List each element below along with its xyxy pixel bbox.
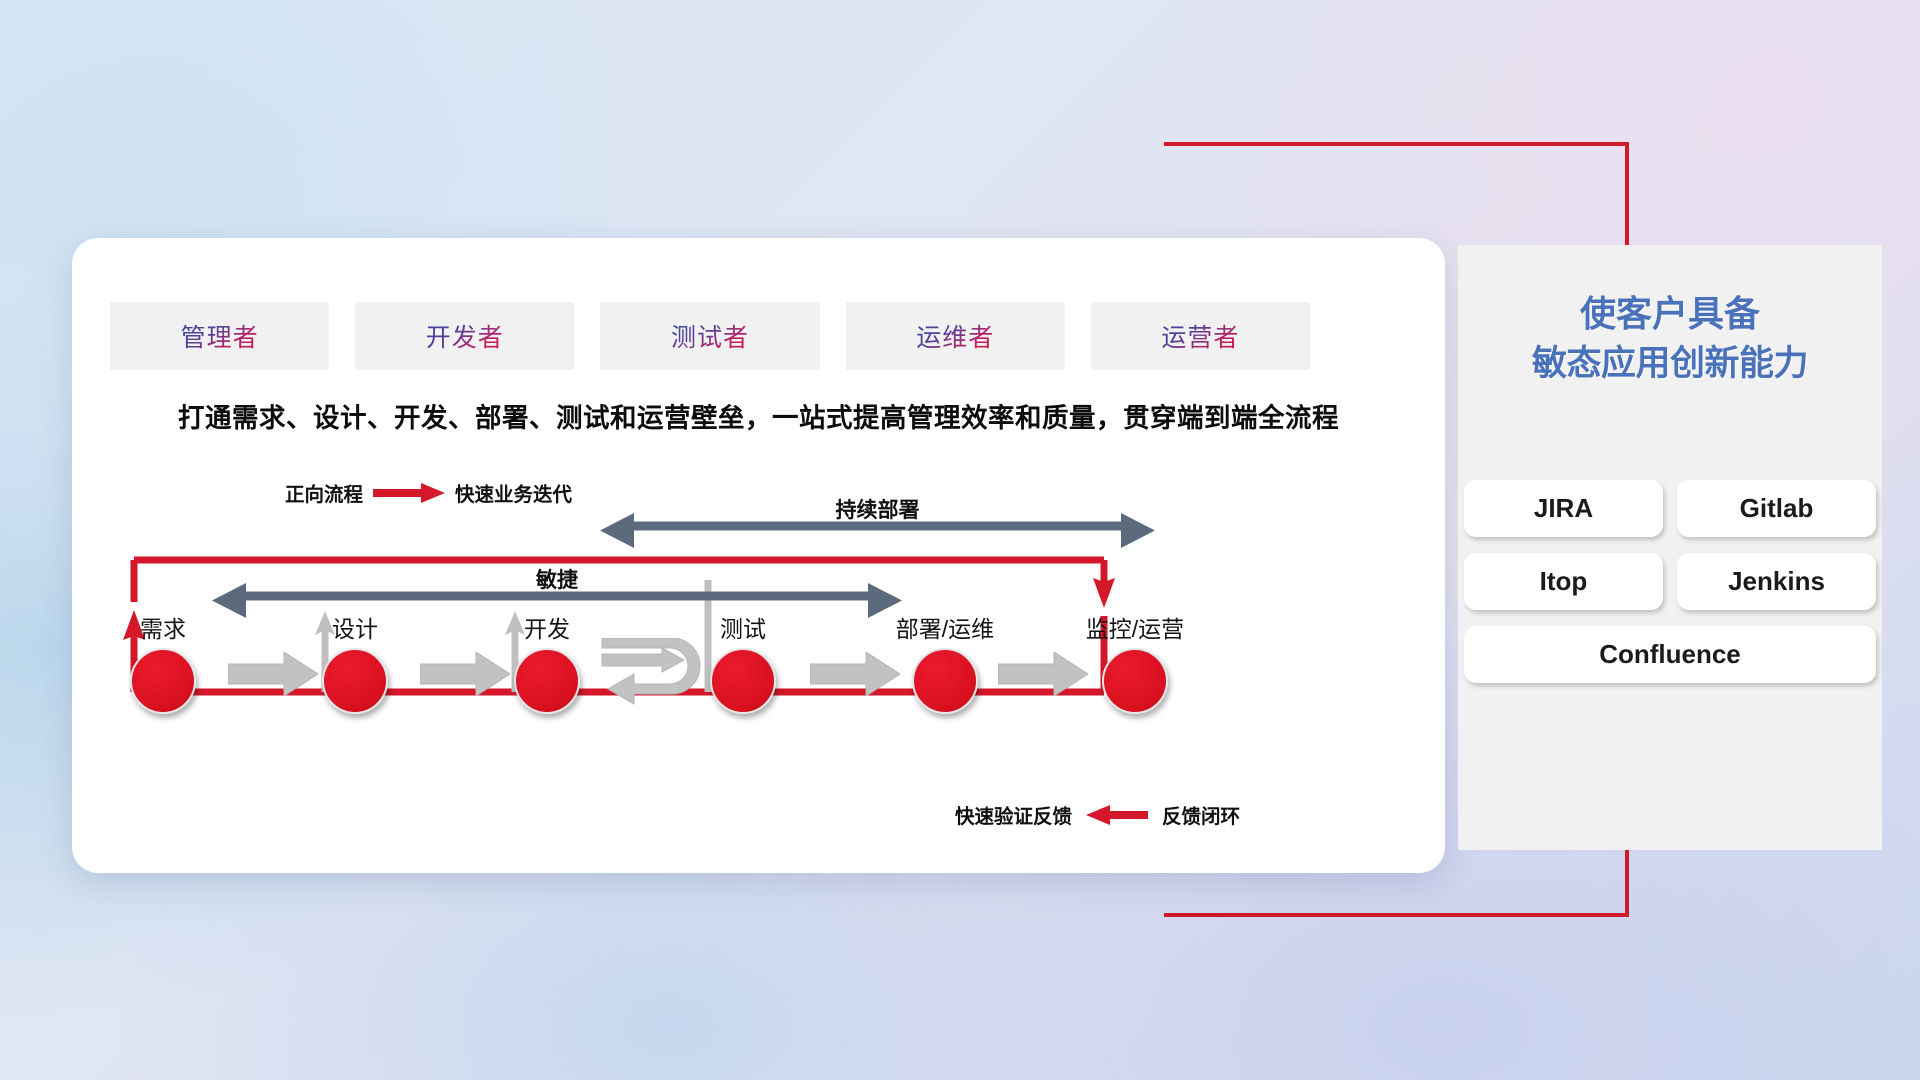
tool-label: Confluence: [1599, 639, 1741, 670]
panel-title: 使客户具备 敏态应用创新能力: [1458, 288, 1882, 389]
role-box-tester[interactable]: 测试者: [600, 302, 819, 370]
role-box-developer[interactable]: 开发者: [355, 302, 574, 370]
role-label: 运营者: [1161, 318, 1239, 354]
tool-label: Gitlab: [1740, 493, 1814, 524]
stage-dot: [710, 648, 776, 714]
role-label: 运维者: [916, 318, 994, 354]
role-label: 管理者: [181, 318, 259, 354]
stage-label: 开发: [492, 610, 602, 644]
tool-chip-itop[interactable]: Itop: [1464, 553, 1663, 610]
role-label: 测试者: [671, 318, 749, 354]
stage-label: 需求: [108, 610, 218, 644]
role-box-operations[interactable]: 运维者: [846, 302, 1065, 370]
stage-label: 测试: [688, 610, 798, 644]
stage-dot: [130, 648, 196, 714]
tool-label: JIRA: [1534, 493, 1593, 524]
stage-dot: [322, 648, 388, 714]
stage-label: 监控/运营: [1060, 610, 1210, 644]
stage-dot: [912, 648, 978, 714]
role-box-business-operator[interactable]: 运营者: [1091, 302, 1310, 370]
role-box-manager[interactable]: 管理者: [110, 302, 329, 370]
pipeline-stage-requirements[interactable]: 需求: [108, 610, 218, 714]
stage-label: 部署/运维: [870, 610, 1020, 644]
pipeline-stage-develop[interactable]: 开发: [492, 610, 602, 714]
tool-chip-jira[interactable]: JIRA: [1464, 480, 1663, 537]
tool-label: Jenkins: [1728, 566, 1825, 597]
tool-chip-gitlab[interactable]: Gitlab: [1677, 480, 1876, 537]
stage-dot: [1102, 648, 1168, 714]
role-box-row: 管理者 开发者 测试者 运维者 运营者: [110, 302, 1310, 370]
stage-dot: [514, 648, 580, 714]
pipeline: 需求 设计 开发 测试 部署/运维 监控/运营: [110, 610, 1400, 730]
tool-list: JIRA Gitlab Itop Jenkins Confluence: [1464, 480, 1876, 683]
tool-chip-jenkins[interactable]: Jenkins: [1677, 553, 1876, 610]
panel-title-line1: 使客户具备: [1458, 288, 1882, 339]
pipeline-stage-test[interactable]: 测试: [688, 610, 798, 714]
tool-label: Itop: [1540, 566, 1588, 597]
tool-chip-confluence[interactable]: Confluence: [1464, 626, 1876, 683]
role-label: 开发者: [426, 318, 504, 354]
measure-arrow-continuous-deployment: [600, 508, 1155, 554]
pipeline-stage-design[interactable]: 设计: [300, 610, 410, 714]
panel-title-line2: 敏态应用创新能力: [1458, 339, 1882, 389]
pipeline-stage-monitor-operate[interactable]: 监控/运营: [1060, 610, 1210, 714]
stage-label: 设计: [300, 610, 410, 644]
